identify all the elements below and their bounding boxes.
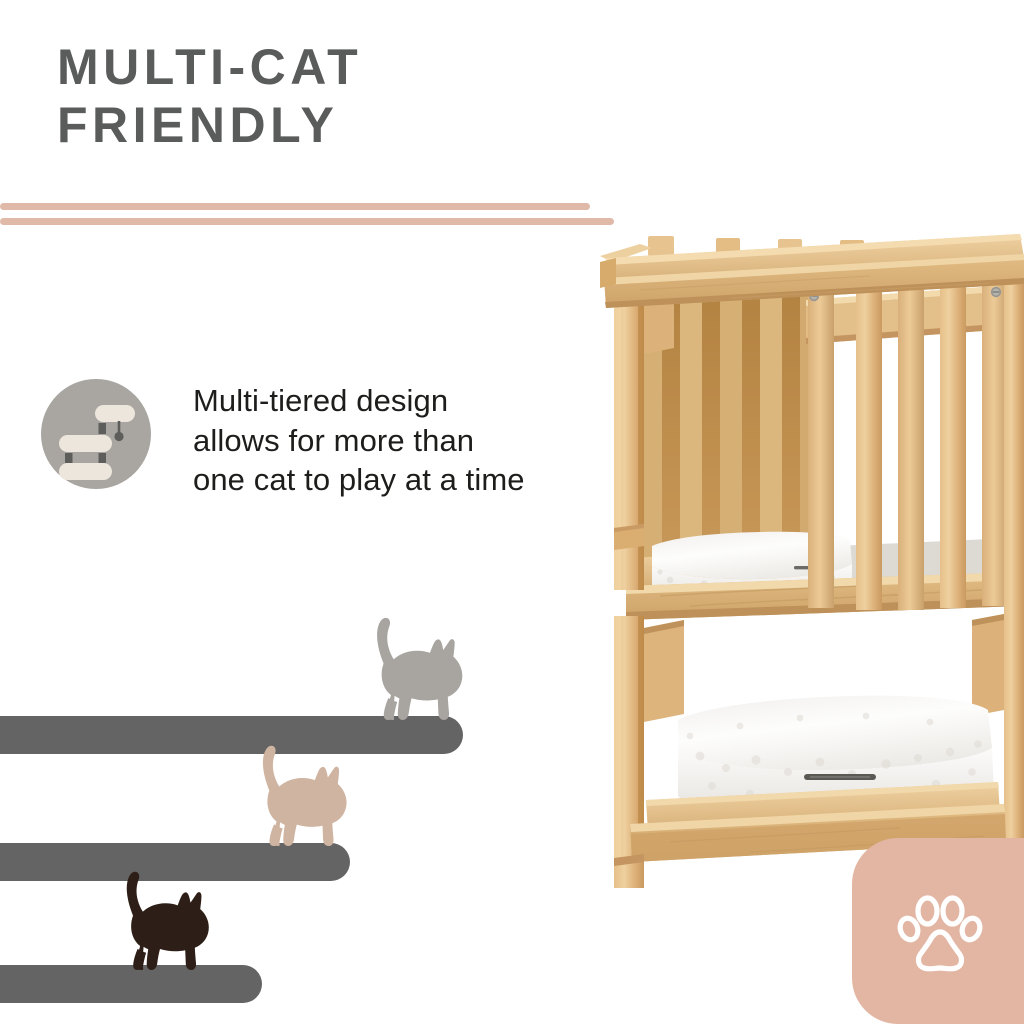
infographic-canvas: MULTI-CAT FRIENDLY Multi-tiered design a… <box>0 0 1024 1024</box>
feature-description: Multi-tiered design allows for more than… <box>193 381 603 500</box>
page-title: MULTI-CAT FRIENDLY <box>57 38 677 154</box>
cat-silhouette-black <box>118 866 222 977</box>
feature-icon-badge <box>41 379 151 489</box>
accent-rule-bottom <box>0 218 614 225</box>
multi-tier-shelf-icon <box>41 379 151 489</box>
accent-rule-top <box>0 203 590 210</box>
paw-print-icon <box>888 882 992 986</box>
two-tier-wooden-cat-house <box>600 228 1024 900</box>
cat-silhouette-tan <box>254 740 360 853</box>
paw-print-badge <box>852 838 1024 1024</box>
cat-silhouette-gray <box>368 612 476 727</box>
